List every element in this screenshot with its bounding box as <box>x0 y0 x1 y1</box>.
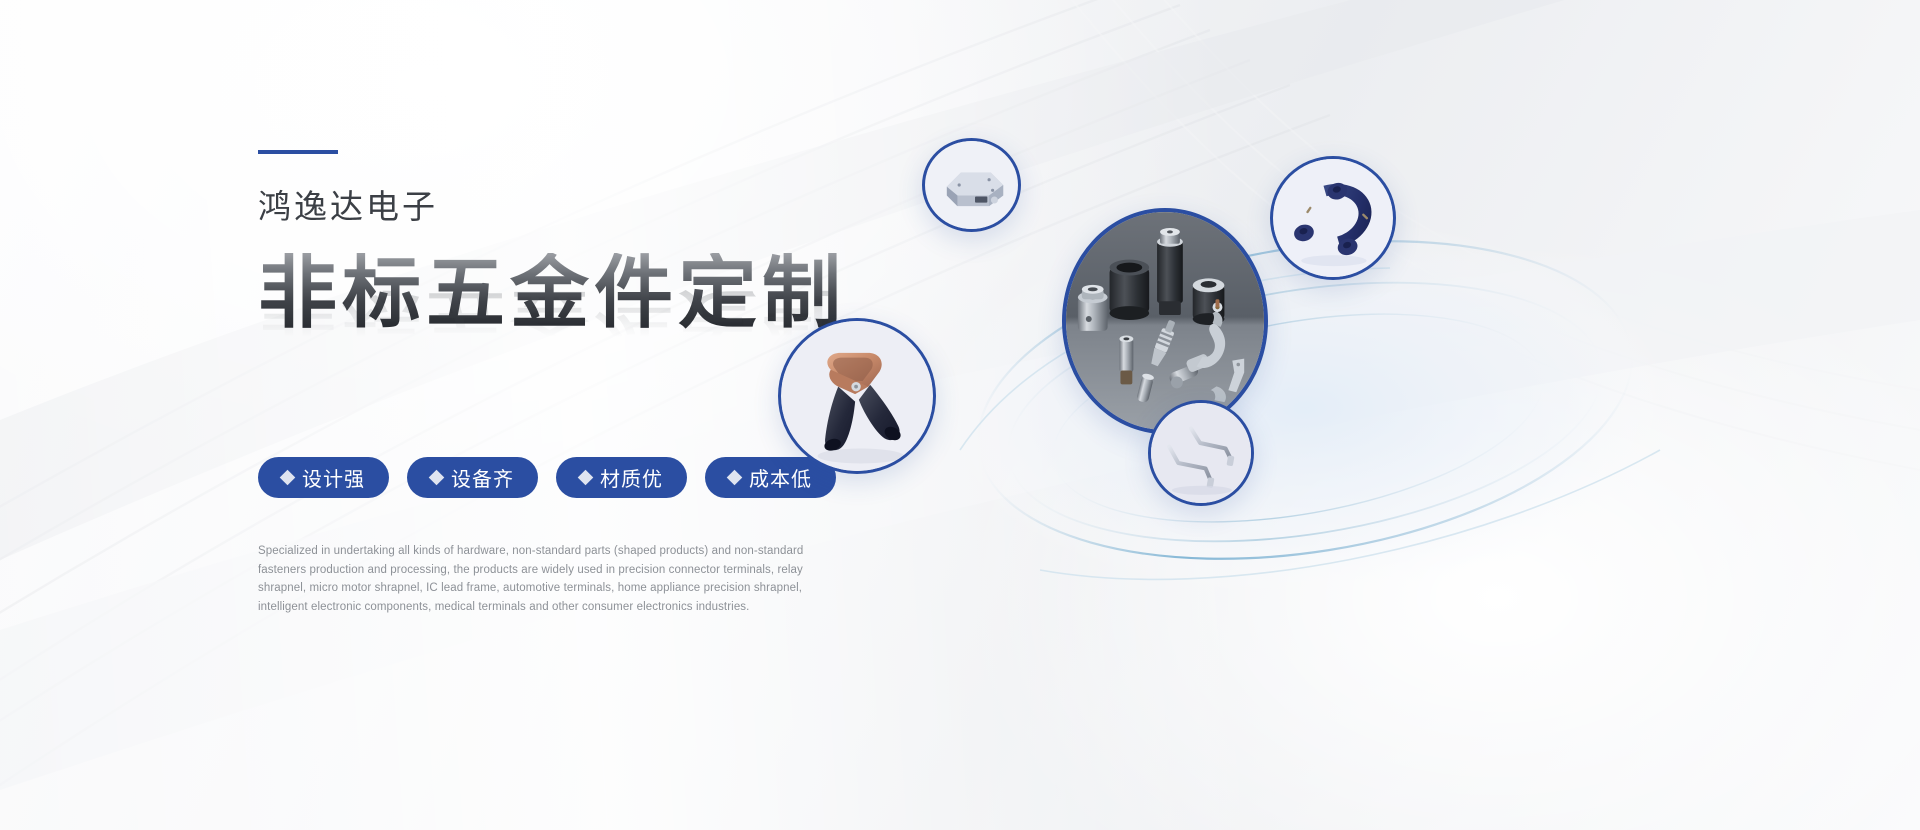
feature-pill-label: 材质优 <box>600 463 663 492</box>
hero-graphic <box>920 150 1720 650</box>
diamond-icon <box>727 470 743 486</box>
bent-metal-terminal-pins-image <box>1151 403 1251 503</box>
feature-pill-label: 设计强 <box>302 463 365 492</box>
copper-battery-clamp-image <box>781 321 933 471</box>
product-node-terminal-pins[interactable] <box>1148 400 1254 506</box>
accent-bar <box>258 150 338 154</box>
diamond-icon <box>280 470 296 486</box>
diamond-icon <box>429 470 445 486</box>
product-node-battery-clamp[interactable] <box>778 318 936 474</box>
machined-metal-parts-image <box>1066 212 1264 430</box>
product-node-machined-parts[interactable] <box>1062 208 1268 434</box>
diamond-icon <box>578 470 594 486</box>
product-node-retaining-ring[interactable] <box>1270 156 1396 280</box>
feature-pill-material[interactable]: 材质优 <box>556 457 687 498</box>
hero-banner: 鸿逸达电子 非标五金件定制 非标五金件定制 设计强 设备齐 材质优 成本低 <box>0 0 1920 830</box>
blue-retaining-ring-image <box>1273 159 1393 277</box>
feature-pill-equipment[interactable]: 设备齐 <box>407 457 538 498</box>
feature-pill-design[interactable]: 设计强 <box>258 457 389 498</box>
brand-name: 鸿逸达电子 <box>258 190 978 223</box>
metal-shield-case-image <box>925 141 1018 229</box>
company-description: Specialized in undertaking all kinds of … <box>258 542 828 617</box>
feature-pill-label: 设备齐 <box>451 463 514 492</box>
product-node-metal-shield-case[interactable] <box>922 138 1021 232</box>
